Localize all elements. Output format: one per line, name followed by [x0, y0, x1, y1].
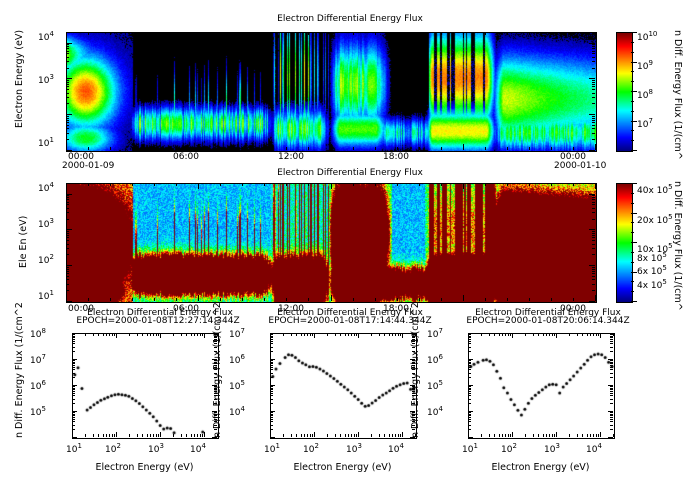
sp0-ytick-right [214, 339, 217, 340]
middle-spectrogram[interactable] [66, 183, 597, 303]
spec-1-ytick-minor [66, 219, 69, 220]
spectrum-1-xtick-2: 103 [148, 445, 164, 455]
sp2-ytick-right [610, 339, 613, 340]
spec-1-xtick [308, 298, 309, 301]
sp0-ytick [72, 412, 75, 413]
middle-colorbar[interactable] [616, 183, 633, 303]
sp2-ytick-right [610, 369, 613, 370]
spec-0-ytick-minor [66, 57, 69, 58]
spec-0-xtick [176, 147, 177, 150]
spec-0-ytick-minor-right [592, 133, 595, 134]
spec-1-xtick-top [573, 183, 574, 186]
spec-1-ytick-minor [66, 202, 69, 203]
spec-0-ytick-minor-right [592, 48, 595, 49]
sp1-ytick-right [410, 385, 415, 386]
spec-0-xtick [397, 147, 398, 150]
sp2-ytick [468, 412, 471, 413]
sp1-xtick [415, 434, 416, 437]
spec-1-xtick [397, 298, 398, 301]
sp1-ytick [270, 395, 273, 396]
sp1-xtick-top [301, 333, 302, 336]
spec-1-ytick-minor [66, 229, 72, 230]
sp2-ytick-right [610, 363, 613, 364]
sp0-ytick-right [214, 389, 217, 390]
spectrum-3-xtick-1: 102 [501, 445, 517, 455]
sp0-ytick [72, 334, 75, 335]
sp2-ytick-right [610, 347, 613, 348]
sp1-ytick-right [412, 403, 415, 404]
spec-1-ytick-minor [66, 194, 72, 195]
spec-0-ytick-minor [66, 114, 72, 115]
sp1-xtick [310, 434, 311, 437]
sp0-ytick [72, 419, 75, 420]
sp1-xtick-top [402, 333, 403, 338]
sp1-ytick-right [412, 419, 415, 420]
sp2-xtick [549, 434, 550, 437]
top-xtick-3: 18:00 [383, 152, 409, 162]
sp0-ytick-right [212, 385, 217, 386]
sp1-ytick-right [410, 437, 415, 438]
sp1-xtick [301, 434, 302, 437]
sp1-ytick-right [410, 333, 415, 334]
sp0-ytick-right [214, 343, 217, 344]
spec-1-ytick-minor [66, 269, 69, 270]
spectrum-3-ytick-2: 105 [427, 382, 443, 392]
spec-0-xtick-top [242, 32, 243, 35]
sp1-xtick-top [296, 333, 297, 336]
sp0-xtick-top [137, 333, 138, 336]
spec-1-ytick-minor-right [592, 276, 595, 277]
sp0-ytick-right [214, 369, 217, 370]
sp1-xtick-top [340, 333, 341, 336]
sp2-xtick-top [481, 333, 482, 336]
spec-1-xtick [176, 298, 177, 301]
middle-panel-title: Electron Differential Energy Flux [200, 168, 500, 178]
spec-1-xtick-top [242, 183, 243, 186]
spec-0-ytick-minor [66, 150, 72, 151]
spec-0-xtick [595, 144, 596, 150]
spec-1-ytick-minor [66, 279, 69, 280]
sp1-xtick-top [371, 333, 372, 336]
sp2-ytick-right [610, 367, 613, 368]
sp0-xtick-top [160, 333, 161, 338]
spec-0-xtick-top [110, 32, 111, 35]
sp1-xtick-top [400, 333, 401, 336]
sp2-xtick-top [596, 333, 597, 336]
sp2-xtick-top [499, 333, 500, 336]
spec-1-xtick [463, 295, 464, 301]
sp2-ytick [468, 411, 473, 412]
sp2-xtick-top [569, 333, 570, 336]
spectrum-2-ytick-1: 106 [229, 356, 245, 366]
spec-0-ytick-minor-right [592, 93, 595, 94]
sp2-xtick [512, 432, 513, 437]
spec-1-ytick-minor [66, 195, 69, 196]
spec-0-ytick-minor-right [589, 78, 595, 79]
spec-1-ytick-minor-right [589, 301, 595, 302]
spec-1-xtick-top [308, 183, 309, 186]
spec-0-ytick-minor [66, 61, 69, 62]
sp1-ytick [270, 437, 275, 438]
spec-1-xtick [595, 295, 596, 301]
sp1-xtick-top [392, 333, 393, 336]
spec-0-xtick [353, 147, 354, 150]
spec-0-ytick-minor [66, 125, 69, 126]
spec-0-ytick-minor [66, 139, 69, 140]
sp1-xtick [354, 434, 355, 437]
sp0-ytick [72, 377, 75, 378]
sp2-ytick [468, 369, 471, 370]
spec-1-xtick [529, 298, 530, 301]
sp1-xtick-top [283, 333, 284, 336]
sp0-ytick [72, 359, 77, 360]
spec-1-ytick-minor [66, 212, 69, 213]
sp1-ytick-right [412, 339, 415, 340]
spectrum-2-plot[interactable] [270, 333, 417, 439]
sp2-xtick-top [552, 333, 553, 336]
spec-0-ytick-minor [66, 118, 69, 119]
sp2-ytick [468, 385, 473, 386]
sp0-ytick [72, 411, 77, 412]
sp1-xtick-top [312, 333, 313, 336]
sp2-xtick [577, 434, 578, 437]
sp0-xtick-top [200, 333, 201, 336]
spec-1-ytick-minor [66, 265, 72, 266]
sp1-xtick-top [307, 333, 308, 336]
sp0-xtick-top [158, 333, 159, 336]
spec-0-ytick-minor-right [592, 125, 595, 126]
sp2-ytick-right [610, 417, 613, 418]
spec-1-xtick-top [485, 183, 486, 186]
top-cbar-tick-0: 1010 [637, 33, 657, 43]
sp2-ytick [468, 363, 471, 364]
spec-1-ytick-minor-right [592, 219, 595, 220]
sp1-ytick [270, 414, 273, 415]
sp1-xtick [304, 434, 305, 437]
spectrum-2-ytick-3: 104 [229, 408, 245, 418]
spec-1-ytick-minor-right [592, 290, 595, 291]
sp0-xtick [186, 434, 187, 437]
spec-1-ytick-minor-right [592, 279, 595, 280]
sp0-xtick [194, 434, 195, 437]
middle-ytick-1e2: 102 [38, 256, 54, 266]
sp2-ytick-right [608, 333, 613, 334]
sp0-ytick-right [212, 437, 217, 438]
sp2-xtick [593, 434, 594, 437]
sp1-xtick [283, 434, 284, 437]
sp2-ytick-right [610, 389, 613, 390]
sp2-ytick-right [610, 337, 613, 338]
cb-mid-tick [631, 193, 634, 194]
top-spectrogram[interactable] [66, 32, 597, 152]
sp2-ytick [468, 336, 471, 337]
sp1-xtick [358, 432, 359, 437]
sp2-xtick [533, 434, 534, 437]
cb-top-tick [631, 130, 634, 131]
spec-0-ytick-minor [66, 44, 69, 45]
sp1-xtick-top [358, 333, 359, 338]
sp2-ytick [468, 359, 473, 360]
spec-1-ytick-minor [66, 235, 69, 236]
sp2-ytick-right [610, 341, 613, 342]
spec-1-ytick-minor [66, 197, 69, 198]
sp0-ytick [72, 417, 75, 418]
sp1-ytick-right [412, 363, 415, 364]
sp0-xtick [197, 434, 198, 437]
sp2-xtick-top [489, 333, 490, 336]
sp0-xtick-top [194, 333, 195, 336]
sp0-ytick-right [214, 403, 217, 404]
spec-0-ytick-minor [66, 116, 69, 117]
sp2-ytick-right [610, 365, 613, 366]
spec-1-xtick [485, 298, 486, 301]
spec-1-ytick-minor-right [592, 195, 595, 196]
sp0-ytick [72, 437, 77, 438]
sp0-xtick [98, 434, 99, 437]
sp1-ytick [270, 417, 273, 418]
spectrum-3-ytick-3: 104 [427, 408, 443, 418]
sp2-ytick [468, 343, 471, 344]
spec-1-xtick [353, 298, 354, 301]
spectrum-1-plot[interactable] [72, 333, 219, 439]
spec-0-xtick-top [573, 32, 574, 35]
sp0-xtick-top [173, 333, 174, 336]
sp2-xtick [481, 434, 482, 437]
spec-0-xtick-top [507, 32, 508, 35]
sp2-ytick [468, 377, 471, 378]
sp2-ytick [468, 417, 471, 418]
sp2-ytick-right [610, 373, 613, 374]
spec-1-ytick-minor-right [592, 271, 595, 272]
sp0-ytick-right [214, 415, 217, 416]
top-colorbar[interactable] [616, 32, 633, 152]
spec-0-xtick-top [331, 32, 332, 38]
spec-1-xtick [242, 298, 243, 301]
sp1-ytick [270, 403, 273, 404]
sp0-xtick [191, 434, 192, 437]
spectrum-2-xlabel: Electron Energy (eV) [270, 462, 415, 473]
spec-0-xtick [551, 147, 552, 150]
sp0-ytick [72, 362, 75, 363]
spec-1-ytick-minor-right [592, 212, 595, 213]
sp1-ytick [270, 391, 273, 392]
middle-cbar-tick-1: 20x 105 [637, 216, 673, 226]
spec-1-xtick [132, 298, 133, 301]
sp0-ytick [72, 369, 75, 370]
sp0-ytick [72, 414, 75, 415]
sp1-ytick [270, 412, 273, 413]
sp2-ytick [468, 391, 471, 392]
spectrum-2-ytick-2: 105 [229, 382, 245, 392]
spectrum-3-xlabel: Electron Energy (eV) [468, 462, 613, 473]
sp2-ytick [468, 373, 471, 374]
spec-1-xtick [419, 298, 420, 301]
sp1-ytick [270, 399, 273, 400]
sp0-xtick-top [93, 333, 94, 336]
spec-0-xtick [463, 144, 464, 150]
spec-0-xtick [242, 147, 243, 150]
sp2-ytick [468, 425, 471, 426]
spec-0-ytick-minor-right [592, 84, 595, 85]
spec-0-xtick [308, 147, 309, 150]
sp0-xtick-top [147, 333, 148, 336]
sp1-ytick [270, 367, 273, 368]
spec-0-ytick-minor [66, 89, 69, 90]
cb-top-tick [631, 32, 637, 33]
sp1-xtick [314, 432, 315, 437]
spec-1-xtick-top [375, 183, 376, 186]
spectrum-3-ytick-1: 106 [427, 356, 443, 366]
spec-1-xtick-top [595, 183, 596, 189]
spec-1-ytick-minor [66, 290, 69, 291]
cb-top-tick [631, 62, 637, 63]
sp0-xtick-top [181, 333, 182, 336]
sp1-xtick [312, 434, 313, 437]
sp1-ytick [270, 386, 273, 387]
sp0-xtick-top [202, 333, 203, 336]
spec-0-ytick-minor-right [592, 82, 595, 83]
cb-mid-tick [631, 213, 637, 214]
spec-0-ytick-minor-right [592, 118, 595, 119]
top-cbar-tick-2: 108 [637, 91, 653, 101]
spec-1-ytick-minor [66, 237, 69, 238]
sp2-ytick-right [610, 351, 613, 352]
spectrum-1-subtitle: EPOCH=2000-01-08T12:27:14.344Z [58, 316, 258, 326]
sp2-ytick-right [610, 334, 613, 335]
sp0-ytick-right [214, 395, 217, 396]
sp2-xtick [582, 434, 583, 437]
spec-1-ytick-minor-right [592, 235, 595, 236]
sp0-ytick-right [214, 365, 217, 366]
spec-0-ytick-minor [66, 86, 69, 87]
sp0-ytick-right [214, 362, 217, 363]
spec-0-xtick [110, 147, 111, 150]
sp1-xtick [384, 434, 385, 437]
spec-0-xtick-top [264, 32, 265, 35]
sp2-xtick-top [525, 333, 526, 336]
spectrum-1-xtick-1: 102 [105, 445, 121, 455]
spec-1-ytick-minor-right [589, 229, 595, 230]
top-cbar-tick-1: 109 [637, 62, 653, 72]
sp2-ytick [468, 388, 471, 389]
cb-top-tick [631, 71, 634, 72]
sp0-ytick [72, 337, 75, 338]
sp1-xtick [356, 434, 357, 437]
spec-1-xtick-top [331, 183, 332, 189]
spec-1-xtick [66, 295, 67, 301]
spec-0-xtick [154, 147, 155, 150]
cb-mid-tick [631, 183, 637, 184]
sp0-ytick-right [214, 421, 217, 422]
spec-1-xtick [220, 298, 221, 301]
sp2-ytick-right [610, 421, 613, 422]
sp2-xtick [598, 434, 599, 437]
sp1-ytick-right [412, 334, 415, 335]
sp1-ytick [270, 385, 275, 386]
sp1-xtick [327, 434, 328, 437]
spec-1-ytick-minor-right [592, 208, 595, 209]
sp1-xtick-top [351, 333, 352, 336]
sp2-xtick-top [554, 333, 555, 336]
spec-1-ytick-minor [66, 208, 69, 209]
sp2-xtick [590, 434, 591, 437]
spec-0-xtick-top [308, 32, 309, 35]
sp0-ytick-right [214, 373, 217, 374]
spec-0-ytick-minor [66, 53, 69, 54]
sp0-xtick-top [116, 333, 117, 338]
spec-0-xtick-top [198, 32, 199, 38]
spec-0-xtick-top [441, 32, 442, 35]
sp1-ytick-right [412, 425, 415, 426]
sp2-ytick-right [610, 391, 613, 392]
sp0-xtick [173, 434, 174, 437]
sp1-xtick [392, 434, 393, 437]
spec-1-ytick-minor [66, 199, 69, 200]
sp2-xtick-top [556, 333, 557, 338]
sp2-ytick-right [610, 399, 613, 400]
spec-1-xtick-top [66, 183, 67, 189]
sp1-ytick-right [412, 386, 415, 387]
sp2-ytick-right [610, 403, 613, 404]
top-ytick-1e3: 103 [38, 76, 54, 86]
spec-0-xtick [441, 147, 442, 150]
sp2-ytick-right [610, 414, 613, 415]
sp0-ytick [72, 421, 75, 422]
spec-1-ytick-minor-right [592, 240, 595, 241]
sp0-ytick [72, 351, 75, 352]
sp2-ytick [468, 395, 471, 396]
spec-1-xtick-top [132, 183, 133, 186]
sp2-ytick [468, 362, 471, 363]
spec-1-ytick-minor-right [589, 265, 595, 266]
spec-0-ytick-minor-right [592, 86, 595, 87]
spec-1-xtick [154, 298, 155, 301]
spec-1-xtick-top [286, 183, 287, 186]
spec-0-xtick-top [485, 32, 486, 35]
sp1-ytick-right [410, 359, 415, 360]
sp1-xtick-top [395, 333, 396, 336]
cb-top-tick [631, 91, 637, 92]
spec-0-ytick-minor-right [592, 68, 595, 69]
spec-1-xtick [331, 295, 332, 301]
spec-1-xtick-top [529, 183, 530, 186]
sp1-ytick-right [412, 412, 415, 413]
spec-0-ytick-minor [66, 46, 69, 47]
sp0-xtick [202, 434, 203, 437]
spec-1-xtick [110, 298, 111, 301]
sp1-xtick-top [348, 333, 349, 336]
sp0-ytick [72, 391, 75, 392]
sp2-xtick-top [593, 333, 594, 336]
spec-1-ytick-minor-right [592, 244, 595, 245]
sp2-ytick-right [610, 395, 613, 396]
spec-1-xtick [264, 298, 265, 301]
sp2-xtick [510, 434, 511, 437]
sp0-ytick-right [214, 417, 217, 418]
spec-0-ytick-minor [66, 103, 69, 104]
sp0-xtick-top [112, 333, 113, 336]
sp1-xtick [340, 434, 341, 437]
cb-top-tick [631, 101, 634, 102]
spec-0-ytick-minor [66, 43, 72, 44]
spec-0-xtick [419, 147, 420, 150]
spectrum-3-plot[interactable] [468, 333, 615, 439]
sp1-xtick [291, 434, 292, 437]
sp0-xtick [85, 434, 86, 437]
sp1-xtick-top [398, 333, 399, 336]
sp0-xtick-top [114, 333, 115, 336]
sp2-xtick [556, 432, 557, 437]
